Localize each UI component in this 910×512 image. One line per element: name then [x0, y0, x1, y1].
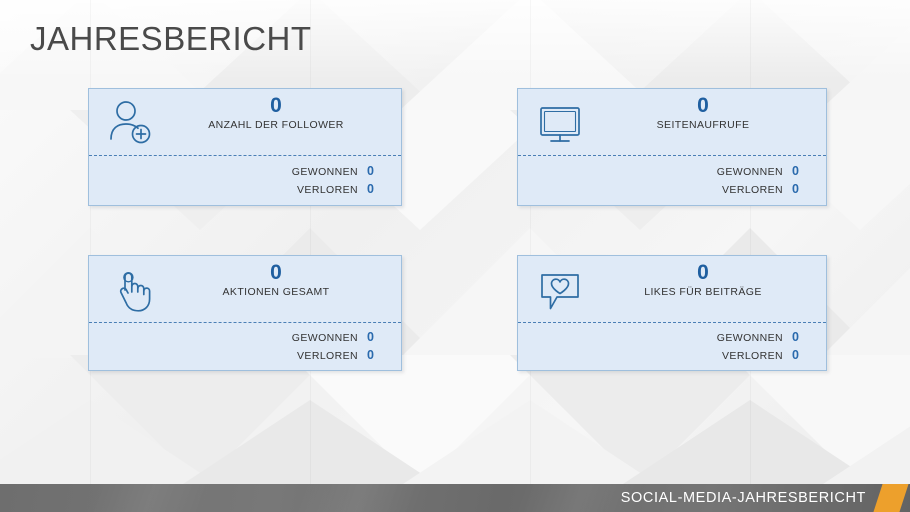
stat-value: 0 [358, 182, 401, 196]
page-title: JAHRESBERICHT [30, 20, 312, 58]
stat-row: GEWONNEN 0 [518, 330, 826, 344]
person-add-icon [105, 97, 157, 149]
stat-row: GEWONNEN 0 [89, 330, 401, 344]
footer-accent-slash [873, 484, 908, 512]
stat-row: VERLOREN 0 [89, 348, 401, 362]
stat-value: 0 [358, 348, 401, 362]
stat-label: VERLOREN [297, 350, 358, 362]
metric-card-total-actions[interactable]: 0 AKTIONEN GESAMT GEWONNEN 0 VERLOREN 0 [88, 255, 402, 371]
stat-label: VERLOREN [722, 350, 783, 362]
stat-value: 0 [783, 164, 826, 178]
facet-shape [820, 400, 910, 486]
card-header: 0 ANZAHL DER FOLLOWER [89, 89, 401, 155]
metric-value: 0 [588, 95, 818, 117]
monitor-icon [534, 97, 586, 149]
stat-value: 0 [783, 330, 826, 344]
stat-row: GEWONNEN 0 [518, 164, 826, 178]
metric-value: 0 [159, 95, 393, 117]
stat-label: GEWONNEN [717, 332, 783, 344]
stat-value: 0 [783, 348, 826, 362]
card-headline: 0 ANZAHL DER FOLLOWER [159, 95, 393, 131]
stat-label: GEWONNEN [292, 332, 358, 344]
metric-label: SEITENAUFRUFE [588, 119, 818, 131]
metric-value: 0 [159, 262, 393, 284]
card-stats: GEWONNEN 0 VERLOREN 0 [89, 322, 401, 362]
card-stats: GEWONNEN 0 VERLOREN 0 [518, 322, 826, 362]
stat-value: 0 [783, 182, 826, 196]
metric-value: 0 [588, 262, 818, 284]
stat-row: VERLOREN 0 [518, 348, 826, 362]
stat-value: 0 [358, 164, 401, 178]
card-stats: GEWONNEN 0 VERLOREN 0 [518, 155, 826, 196]
stat-label: GEWONNEN [292, 166, 358, 178]
stat-row: GEWONNEN 0 [89, 164, 401, 178]
stat-row: VERLOREN 0 [89, 182, 401, 196]
metric-card-page-views[interactable]: 0 SEITENAUFRUFE GEWONNEN 0 VERLOREN 0 [517, 88, 827, 206]
card-header: 0 LIKES FÜR BEITRÄGE [518, 256, 826, 322]
metric-label: AKTIONEN GESAMT [159, 286, 393, 298]
stat-label: VERLOREN [722, 184, 783, 196]
metric-label: LIKES FÜR BEITRÄGE [588, 286, 818, 298]
stat-label: GEWONNEN [717, 166, 783, 178]
card-header: 0 AKTIONEN GESAMT [89, 256, 401, 322]
footer-sheen [85, 484, 215, 512]
footer-bar: SOCIAL-MEDIA-JAHRESBERICHT [0, 484, 910, 512]
facet-shape [820, 228, 910, 358]
card-header: 0 SEITENAUFRUFE [518, 89, 826, 155]
card-headline: 0 SEITENAUFRUFE [588, 95, 818, 131]
comment-heart-icon [534, 264, 586, 316]
slide-canvas: JAHRESBERICHT 0 ANZAHL DER FOLLOWER GEWO… [0, 0, 910, 512]
stat-value: 0 [358, 330, 401, 344]
stat-row: VERLOREN 0 [518, 182, 826, 196]
metric-card-post-likes[interactable]: 0 LIKES FÜR BEITRÄGE GEWONNEN 0 VERLOREN… [517, 255, 827, 371]
card-headline: 0 AKTIONEN GESAMT [159, 262, 393, 298]
card-headline: 0 LIKES FÜR BEITRÄGE [588, 262, 818, 298]
footer-title: SOCIAL-MEDIA-JAHRESBERICHT [621, 490, 866, 506]
tap-hand-icon [105, 264, 157, 316]
metric-label: ANZAHL DER FOLLOWER [159, 119, 393, 131]
metric-card-followers[interactable]: 0 ANZAHL DER FOLLOWER GEWONNEN 0 VERLORE… [88, 88, 402, 206]
stat-label: VERLOREN [297, 184, 358, 196]
card-stats: GEWONNEN 0 VERLOREN 0 [89, 155, 401, 196]
footer-sheen [295, 484, 425, 512]
